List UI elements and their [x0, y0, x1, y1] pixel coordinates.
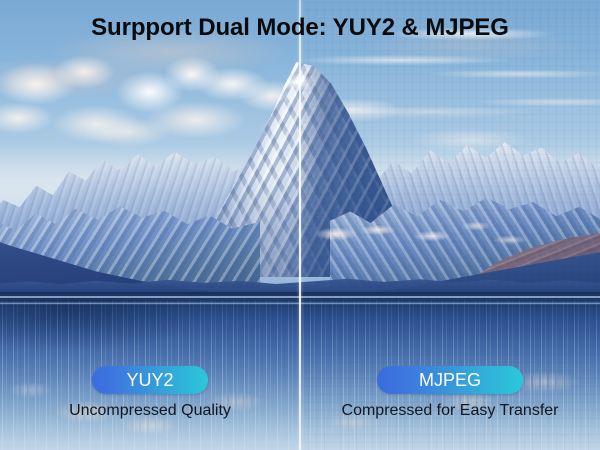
mode-labels-row: YUY2 Uncompressed Quality MJPEG Compress…	[0, 366, 600, 421]
mode-column-yuy2: YUY2 Uncompressed Quality	[0, 366, 300, 421]
mode-column-mjpeg: MJPEG Compressed for Easy Transfer	[300, 366, 600, 421]
dual-mode-banner: Surpport Dual Mode: YUY2 & MJPEG YUY2 Un…	[0, 0, 600, 450]
badge-yuy2[interactable]: YUY2	[92, 366, 207, 394]
page-title: Surpport Dual Mode: YUY2 & MJPEG	[0, 12, 600, 44]
caption-mjpeg: Compressed for Easy Transfer	[342, 401, 559, 421]
caption-yuy2: Uncompressed Quality	[69, 401, 231, 421]
badge-mjpeg[interactable]: MJPEG	[377, 366, 523, 394]
